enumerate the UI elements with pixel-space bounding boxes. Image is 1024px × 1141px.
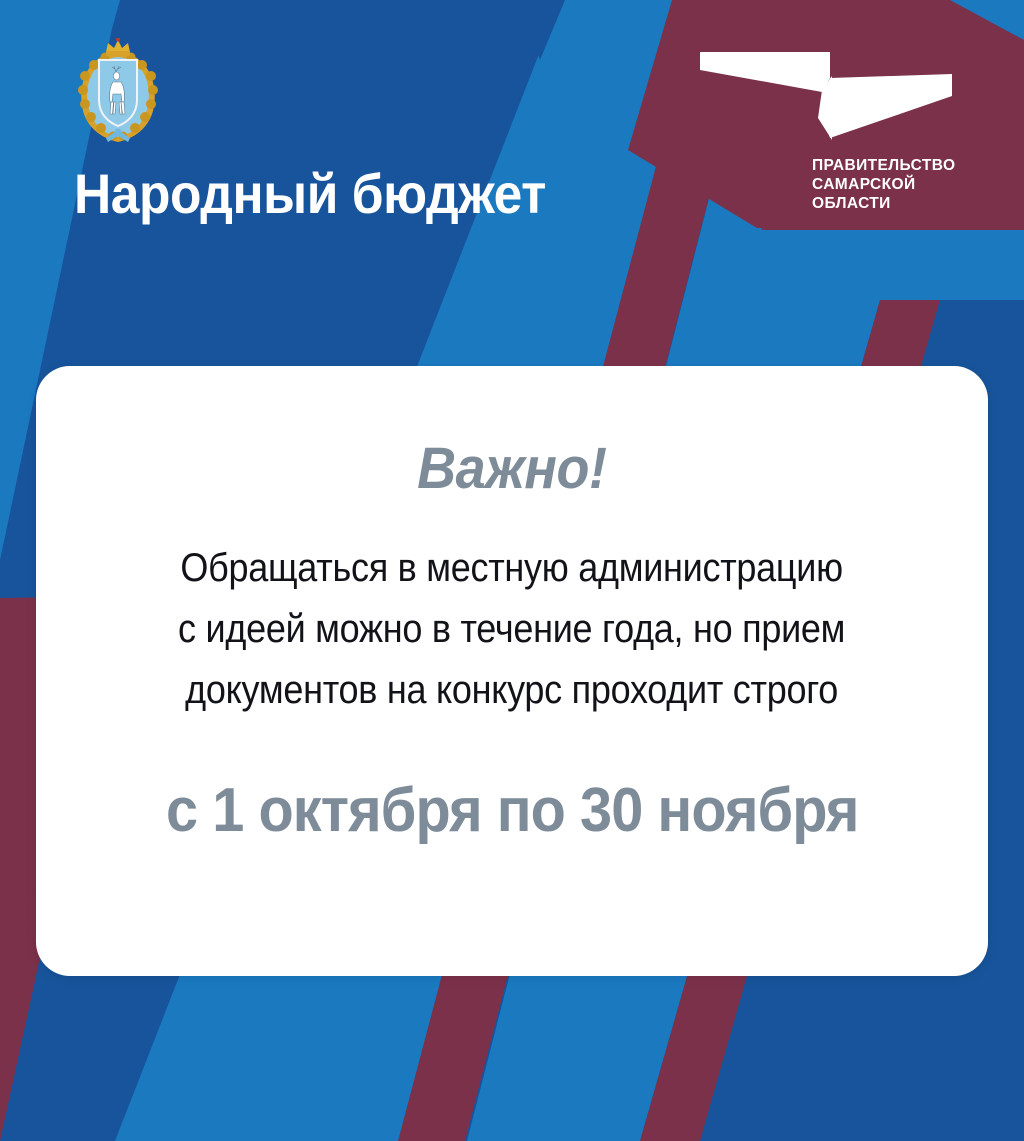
government-logo: ПРАВИТЕЛЬСТВО САМАРСКОЙ ОБЛАСТИ <box>690 48 980 218</box>
card-dates: с 1 октября по 30 ноября <box>166 780 858 842</box>
chevron-right-wing <box>822 74 952 138</box>
coat-of-arms-icon <box>72 38 164 146</box>
chevron-mark-icon <box>690 48 960 140</box>
info-card: Важно! Обращаться в местную администраци… <box>36 366 988 976</box>
card-body-line-3: документов на конкурс проходит строго <box>178 660 845 721</box>
card-body-line-2: с идеей можно в течение года, но прием <box>178 599 845 660</box>
card-body-line-1: Обращаться в местную администрацию <box>178 538 845 599</box>
government-logo-text: ПРАВИТЕЛЬСТВО САМАРСКОЙ ОБЛАСТИ <box>812 156 955 214</box>
poster-root: ПРАВИТЕЛЬСТВО САМАРСКОЙ ОБЛАСТИ Народный… <box>0 0 1024 1141</box>
crown-icon <box>106 38 130 56</box>
card-body: Обращаться в местную администрацию с иде… <box>178 538 845 720</box>
card-heading: Важно! <box>417 440 606 498</box>
page-title: Народный бюджет <box>74 166 546 222</box>
